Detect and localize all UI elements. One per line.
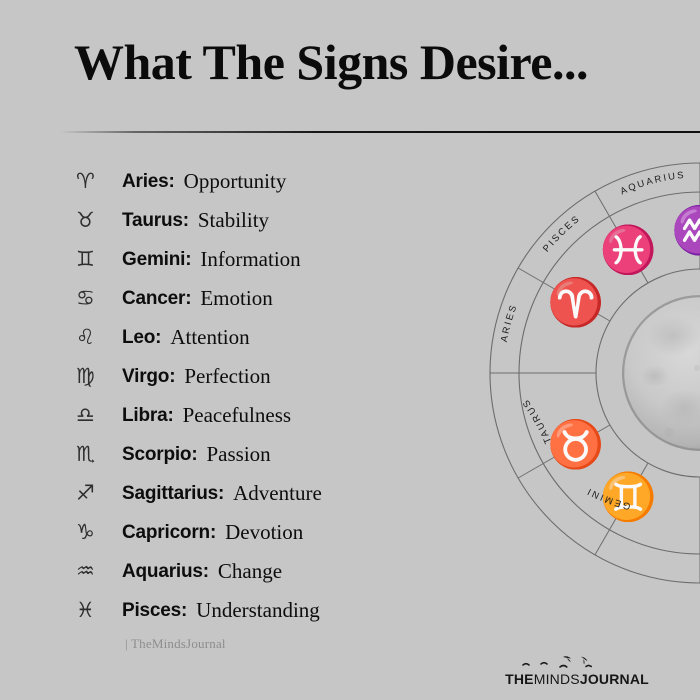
leo-glyph-icon: ♌: [70, 327, 122, 348]
sign-label-aquarius: Aquarius:: [122, 561, 209, 583]
wheel-outer-circle: [490, 163, 700, 583]
cancer-glyph-icon: ♋: [70, 288, 122, 309]
wheel-label-gemini: GEMINI: [584, 485, 632, 512]
list-item: ♈ Aries: Opportunity: [70, 162, 490, 201]
wheel-label-aquarius: AQUARIUS: [619, 170, 687, 198]
list-item: ♑ Capricorn: Devotion: [70, 513, 490, 552]
libra-glyph-icon: ♎: [70, 405, 122, 426]
sign-label-sagittarius: Sagittarius:: [122, 483, 224, 505]
gemini-glyph-icon: ♊: [70, 249, 122, 270]
list-item: ♍ Virgo: Perfection: [70, 357, 490, 396]
list-item: ♏ Scorpio: Passion: [70, 435, 490, 474]
list-item: ♒ Aquarius: Change: [70, 552, 490, 591]
pisces-glyph-icon: ♓: [70, 600, 122, 621]
brand-word-minds: MINDS: [534, 671, 580, 687]
brand-logo: THEMINDSJOURNAL: [497, 655, 657, 695]
sign-label-pisces: Pisces:: [122, 600, 187, 622]
wheel-ornament-gemini: ♊: [600, 470, 657, 524]
wheel-ornament-aquarius: ♒: [671, 203, 700, 257]
wheel-ornament-taurus: ♉: [547, 417, 604, 471]
wheel-label-aries: ARIES: [499, 302, 520, 343]
sign-label-virgo: Virgo:: [122, 366, 175, 388]
sign-label-cancer: Cancer:: [122, 288, 191, 310]
zodiac-desire-list: ♈ Aries: Opportunity ♉ Taurus: Stability…: [70, 162, 490, 630]
sign-label-scorpio: Scorpio:: [122, 444, 197, 466]
list-item: ♌ Leo: Attention: [70, 318, 490, 357]
scorpio-glyph-icon: ♏: [70, 444, 122, 465]
desire-value-libra: Peacefulness: [183, 403, 291, 428]
sagittarius-glyph-icon: ♐: [70, 483, 122, 504]
virgo-glyph-icon: ♍: [70, 366, 122, 387]
wheel-spokes: [490, 161, 700, 583]
sign-label-aries: Aries:: [122, 171, 175, 193]
desire-value-sagittarius: Adventure: [233, 481, 322, 506]
sign-label-leo: Leo:: [122, 327, 161, 349]
wheel-label-ring-inner-circle: [519, 192, 700, 554]
list-item: ♉ Taurus: Stability: [70, 201, 490, 240]
wheel-ornaments: ♑ ♒ ♓ ♈ ♉ ♊: [547, 203, 700, 524]
desire-value-leo: Attention: [170, 325, 249, 350]
sign-label-gemini: Gemini:: [122, 249, 191, 271]
brand-word-journal: JOURNAL: [580, 671, 649, 687]
birds-icon: [519, 653, 637, 673]
capricorn-glyph-icon: ♑: [70, 522, 122, 543]
list-item: ♐ Sagittarius: Adventure: [70, 474, 490, 513]
page-title: What The Signs Desire...: [74, 33, 588, 91]
desire-value-aries: Opportunity: [184, 169, 287, 194]
moon-center: [622, 295, 700, 451]
wheel-ring-labels: CAPRICORN AQUARIUS PISCES ARIES TAURUS G…: [499, 170, 700, 512]
desire-value-pisces: Understanding: [196, 598, 320, 623]
credit-line: | TheMindsJournal: [125, 636, 226, 652]
wheel-label-taurus: TAURUS: [520, 396, 554, 445]
desire-value-taurus: Stability: [198, 208, 269, 233]
desire-value-cancer: Emotion: [200, 286, 272, 311]
aries-glyph-icon: ♈: [70, 171, 122, 192]
wheel-ornament-pisces: ♓: [600, 223, 657, 277]
desire-value-aquarius: Change: [218, 559, 282, 584]
sign-label-taurus: Taurus:: [122, 210, 189, 232]
aquarius-glyph-icon: ♒: [70, 561, 122, 582]
sign-label-libra: Libra:: [122, 405, 174, 427]
header-divider: [60, 131, 700, 133]
wheel-label-pisces: PISCES: [541, 213, 583, 254]
taurus-glyph-icon: ♉: [70, 210, 122, 231]
list-item: ♋ Cancer: Emotion: [70, 279, 490, 318]
list-item: ♎ Libra: Peacefulness: [70, 396, 490, 435]
list-item: ♊ Gemini: Information: [70, 240, 490, 279]
sign-label-capricorn: Capricorn:: [122, 522, 216, 544]
desire-value-scorpio: Passion: [206, 442, 270, 467]
desire-value-gemini: Information: [200, 247, 300, 272]
list-item: ♓ Pisces: Understanding: [70, 591, 490, 630]
brand-logo-text: THEMINDSJOURNAL: [497, 671, 657, 687]
wheel-ornament-aries: ♈: [547, 275, 604, 329]
desire-value-capricorn: Devotion: [225, 520, 303, 545]
brand-word-the: THE: [505, 671, 534, 687]
desire-value-virgo: Perfection: [184, 364, 270, 389]
wheel-inner-circle: [596, 269, 700, 477]
poster-canvas: What The Signs Desire...: [0, 0, 700, 700]
